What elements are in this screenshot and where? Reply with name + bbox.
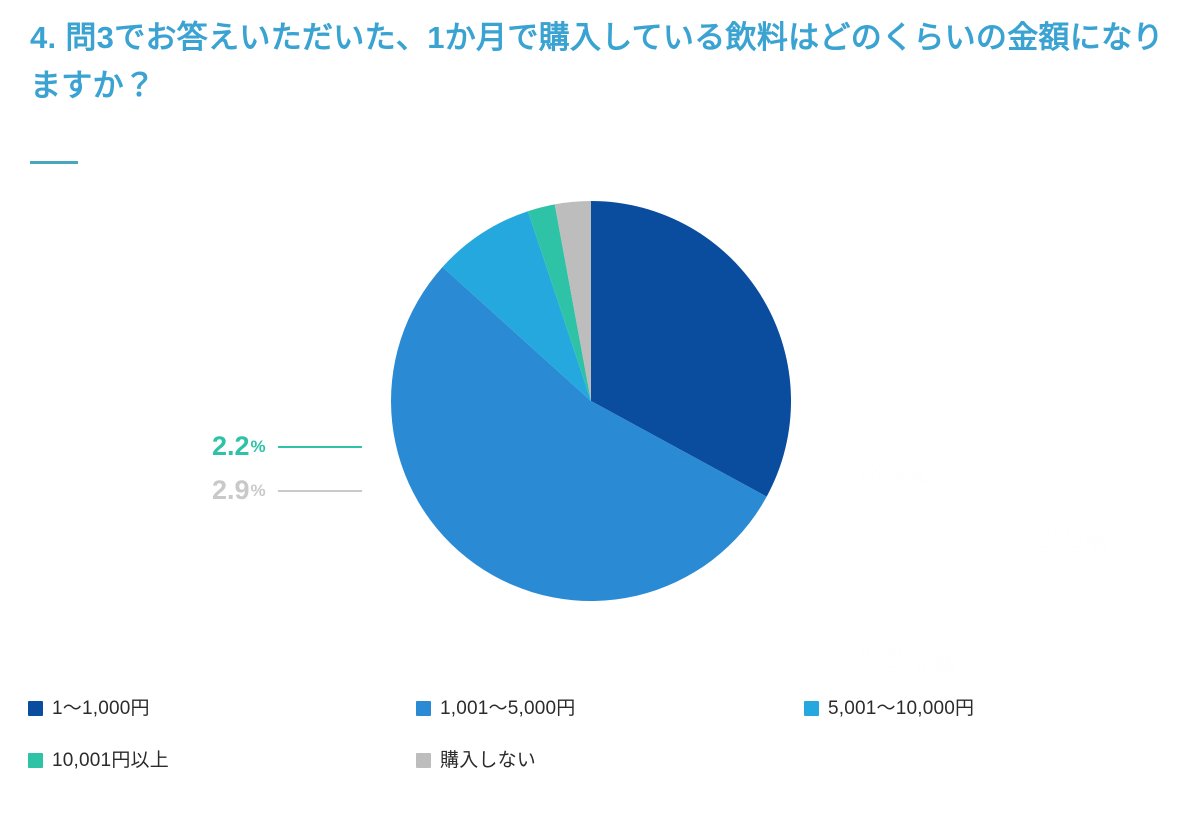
callout-value: 2.2 (212, 433, 250, 460)
legend-swatch-icon (416, 753, 431, 768)
legend-label: 10,001円以上 (52, 751, 169, 770)
callout-no-purchase: 2.9% (212, 477, 362, 504)
legend-label: 1,001〜5,000円 (440, 699, 576, 718)
slice-value: 32.9 (1014, 518, 1088, 560)
legend-item-5001-10000yen[interactable]: 5,001〜10,000円 (804, 695, 1189, 721)
slice-value: 53.7 (860, 638, 934, 680)
legend-swatch-icon (28, 701, 43, 716)
legend-label: 5,001〜10,000円 (828, 699, 974, 718)
slice-value: 8.2 (862, 453, 908, 490)
pie-chart: 2.2% 2.9% 32.9% 53.7% 8.2% (0, 180, 1189, 660)
slice-percent-sign: % (908, 466, 926, 488)
legend-label: 1〜1,000円 (52, 699, 150, 718)
callout-10001-plus: 2.2% (212, 433, 362, 460)
slice-percent-sign: % (1088, 530, 1108, 556)
chart-header: 4. 問3でお答えいただいた、1か月で購入している飲料はどのくらいの金額になりま… (30, 14, 1170, 110)
callout-percent-sign: % (251, 438, 266, 455)
legend-item-1-1000yen[interactable]: 1〜1,000円 (28, 695, 416, 721)
legend-swatch-icon (28, 753, 43, 768)
callout-value: 2.9 (212, 477, 250, 504)
slice-label-1-1000yen: 32.9% (1014, 520, 1108, 558)
chart-legend: 1〜1,000円 1,001〜5,000円 5,001〜10,000円 10,0… (28, 695, 1148, 799)
legend-label: 購入しない (440, 751, 536, 770)
slice-label-5001-10000yen: 8.2% (862, 455, 926, 488)
legend-item-no-purchase[interactable]: 購入しない (416, 747, 804, 773)
pie-graphic: 32.9% 53.7% 8.2% (390, 200, 792, 602)
slice-label-1001-5000yen: 53.7% (860, 640, 954, 678)
callout-leader-line (278, 490, 362, 492)
legend-item-empty (804, 747, 1189, 773)
pie-svg (390, 200, 792, 602)
legend-swatch-icon (804, 701, 819, 716)
title-underline-rule (30, 161, 78, 164)
legend-item-1001-5000yen[interactable]: 1,001〜5,000円 (416, 695, 804, 721)
legend-row: 10,001円以上 購入しない (28, 747, 1148, 799)
page-title: 4. 問3でお答えいただいた、1か月で購入している飲料はどのくらいの金額になりま… (30, 14, 1170, 110)
legend-row: 1〜1,000円 1,001〜5,000円 5,001〜10,000円 (28, 695, 1148, 747)
callout-percent-sign: % (251, 482, 266, 499)
slice-percent-sign: % (934, 650, 954, 676)
callout-leader-line (278, 446, 362, 448)
pie-slice-group (391, 201, 791, 601)
legend-item-10001yen-plus[interactable]: 10,001円以上 (28, 747, 416, 773)
legend-swatch-icon (416, 701, 431, 716)
